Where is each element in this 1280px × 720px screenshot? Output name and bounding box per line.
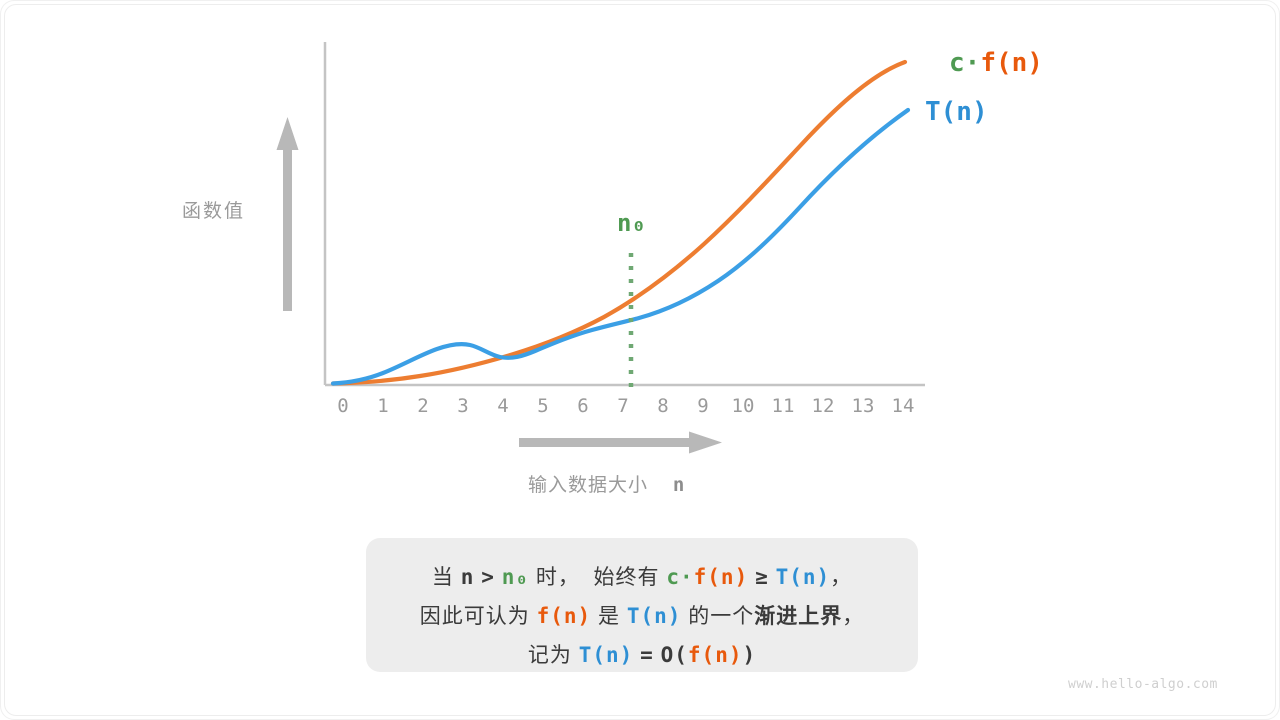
n0-annotation-label: n₀ (617, 211, 646, 235)
x-tick-10: 10 (723, 395, 763, 417)
watermark: www.hello-algo.com (1068, 678, 1218, 691)
x-tick-2: 2 (403, 395, 443, 417)
caption-l1-tn: T(n) (776, 565, 831, 589)
x-tick-3: 3 (443, 395, 483, 417)
x-tick-4: 4 (483, 395, 523, 417)
caption-l2-comma: ， (842, 605, 864, 628)
legend-f-n-text: f(n) (980, 48, 1043, 78)
caption-l2-s3: 是 (598, 605, 620, 628)
caption-l3-close: ) (742, 643, 756, 667)
x-direction-arrow-icon (519, 432, 722, 454)
caption-l3-s1: 记为 (528, 644, 572, 667)
x-tick-13: 13 (843, 395, 883, 417)
caption-l3-eq: = (640, 643, 654, 667)
caption-line-1: 当 n > n₀ 时， 始终有 c·f(n) ≥ T(n)， (366, 561, 918, 591)
caption-line-2: 因此可认为 f(n) 是 T(n) 的一个渐进上界， (366, 600, 918, 630)
caption-l1-gt: > (481, 565, 495, 589)
caption-l1-comma: ， (830, 566, 852, 589)
curve-t-n (333, 110, 908, 384)
caption-l1-n: n (461, 565, 475, 589)
legend-c-prefix: c· (949, 48, 980, 78)
x-tick-14: 14 (883, 395, 923, 417)
caption-l1-ge: ≥ (755, 565, 769, 589)
caption-l3-fn: f(n) (688, 643, 743, 667)
x-axis-label: 输入数据大小 n (528, 476, 685, 495)
x-tick-1: 1 (363, 395, 403, 417)
caption-l1-s6: 始终有 (594, 566, 660, 589)
x-tick-11: 11 (763, 395, 803, 417)
x-tick-9: 9 (683, 395, 723, 417)
caption-l3-tn: T(n) (579, 643, 634, 667)
legend-label-t-n: T(n) (925, 99, 988, 125)
x-tick-12: 12 (803, 395, 843, 417)
caption-l2-tn: T(n) (627, 604, 682, 628)
y-direction-arrow-icon (277, 117, 299, 311)
caption-l3-open: O( (661, 643, 688, 667)
caption-l2-fn: f(n) (537, 604, 592, 628)
caption-box: 当 n > n₀ 时， 始终有 c·f(n) ≥ T(n)， 因此可认为 f(n… (366, 538, 918, 672)
caption-l1-fn: f(n) (694, 565, 749, 589)
legend-label-c-f-n: c·f(n) (949, 50, 1043, 76)
x-axis-label-text: 输入数据大小 (528, 475, 648, 496)
x-axis-label-var: n (673, 474, 685, 496)
figure-canvas: c·f(n) T(n) n₀ 函数值 输入数据大小 n 0 1 2 3 4 5 … (0, 0, 1280, 720)
caption-l1-n0: n₀ (502, 565, 529, 589)
x-tick-5: 5 (523, 395, 563, 417)
caption-l2-emphasis: 渐进上界 (754, 605, 842, 628)
x-tick-8: 8 (643, 395, 683, 417)
caption-l2-s1: 因此可认为 (420, 605, 530, 628)
legend-t-n-text: T(n) (925, 97, 988, 127)
caption-line-3: 记为 T(n) = O(f(n)) (366, 639, 918, 669)
caption-l1-s5: 时， (536, 566, 580, 589)
x-tick-0: 0 (323, 395, 363, 417)
y-axis-label: 函数值 (182, 202, 245, 221)
caption-l1-c: c· (666, 565, 693, 589)
caption-l1-s1: 当 (432, 566, 454, 589)
x-tick-7: 7 (603, 395, 643, 417)
caption-l2-s5: 的一个 (688, 605, 754, 628)
x-tick-6: 6 (563, 395, 603, 417)
